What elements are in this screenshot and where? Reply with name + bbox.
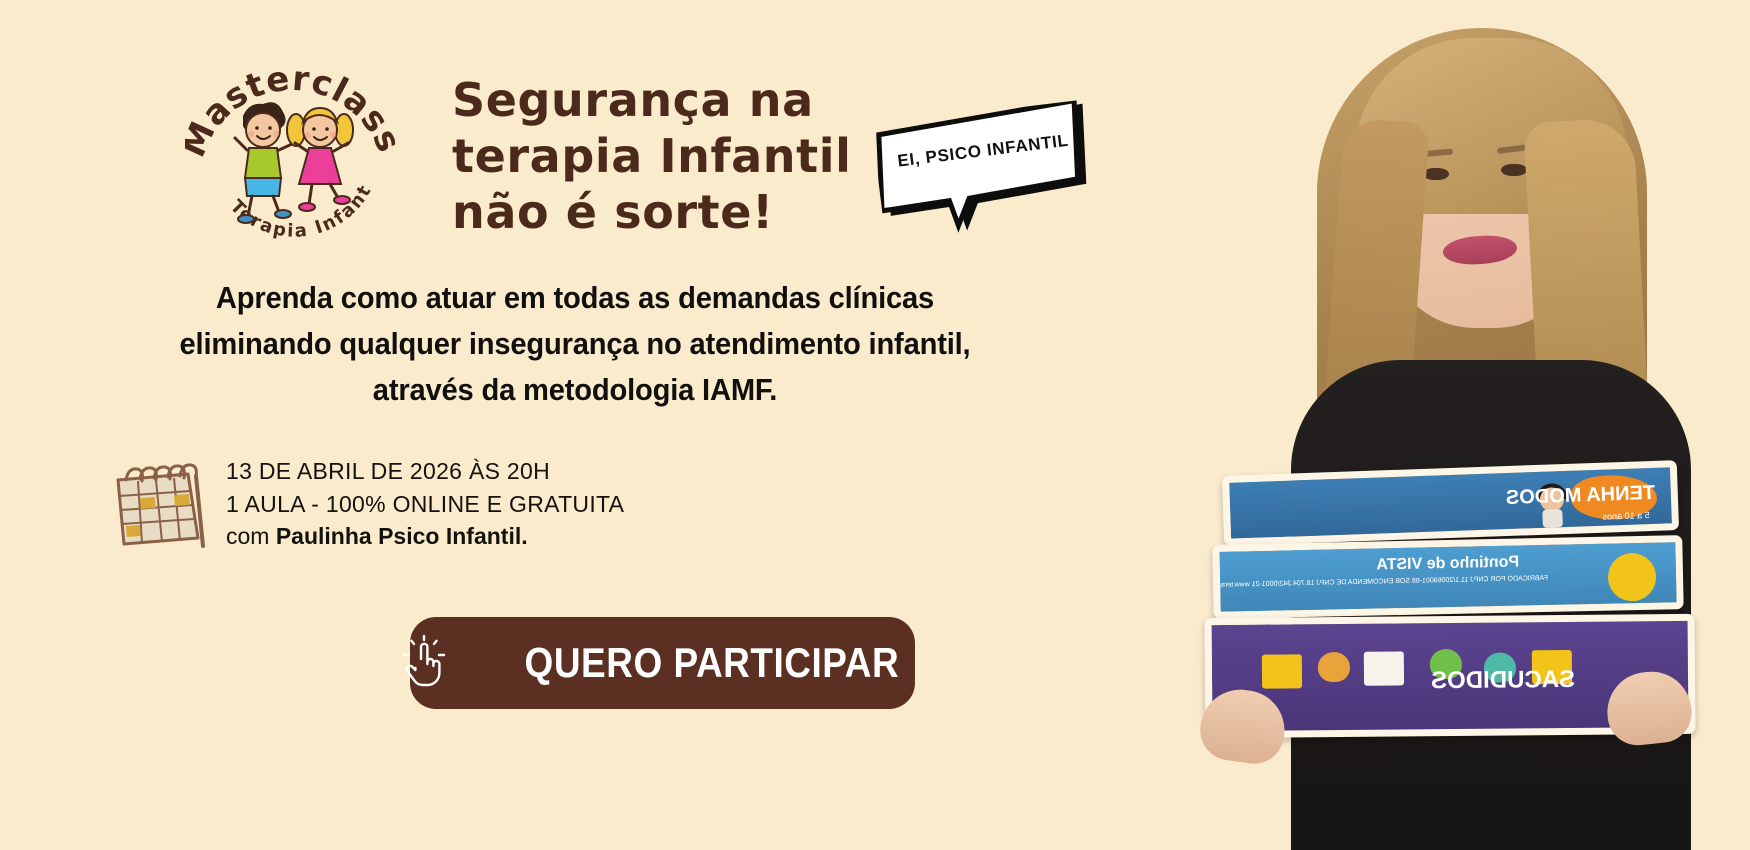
presenter-eye-left	[1423, 168, 1449, 180]
presenter-figure: TENHA MODOS 5 a 10 anos Pontinho de VIST…	[1205, 0, 1750, 850]
presenter-photo: TENHA MODOS 5 a 10 anos Pontinho de VIST…	[1110, 0, 1750, 850]
click-hand-icon	[401, 635, 447, 691]
event-date: 13 DE ABRIL DE 2026 ÀS 20H	[226, 455, 624, 488]
calendar-illustration	[108, 458, 208, 550]
box-subtitle: 5 a 10 anos	[1602, 510, 1649, 522]
box-yellow-circle	[1608, 553, 1657, 602]
cta-label: QUERO PARTICIPAR	[524, 639, 899, 687]
box-title: SACUDIDOS	[1431, 666, 1575, 695]
masterclass-logo: Masterclass Terapia Infantil	[185, 38, 395, 253]
promo-banner: Masterclass Terapia Infantil	[0, 0, 1750, 850]
logo-illustration: Masterclass Terapia Infantil	[185, 38, 395, 253]
subheadline: Aprenda como atuar em todas as demandas …	[100, 275, 1049, 413]
event-info-block: 13 DE ABRIL DE 2026 ÀS 20H 1 AULA - 100%…	[108, 455, 624, 553]
quero-participar-button[interactable]: QUERO PARTICIPAR	[410, 617, 915, 709]
game-box-pontinho-de-vista: Pontinho de VISTA FABRICADO POR CNPJ 11.…	[1212, 535, 1683, 619]
event-host-name: Paulinha Psico Infantil.	[276, 523, 528, 549]
box-fine-print: FABRICADO POR CNPJ 11.1/20069001-88 SOB …	[1212, 575, 1548, 592]
girl-figure	[287, 108, 353, 211]
speech-bubble-shape	[872, 99, 1100, 242]
event-format: 1 AULA - 100% ONLINE E GRATUITA	[226, 488, 624, 521]
event-info-lines: 13 DE ABRIL DE 2026 ÀS 20H 1 AULA - 100%…	[226, 455, 624, 553]
svg-text:Masterclass: Masterclass	[185, 59, 395, 164]
subheadline-line-3: através da metodologia IAMF.	[100, 367, 1049, 413]
subheadline-line-1: Aprenda como atuar em todas as demandas …	[100, 275, 1049, 321]
event-host: com Paulinha Psico Infantil.	[226, 520, 624, 553]
content-column: Masterclass Terapia Infantil	[0, 0, 1110, 850]
box-title: Pontinho de VISTA	[1376, 554, 1519, 575]
speech-bubble: EI, PSICO INFANTIL	[872, 99, 1100, 242]
calendar-icon	[108, 458, 208, 550]
subheadline-line-2: eliminando qualquer insegurança no atend…	[100, 321, 1049, 367]
presenter-eye-right	[1501, 164, 1527, 176]
event-host-prefix: com	[226, 523, 276, 549]
